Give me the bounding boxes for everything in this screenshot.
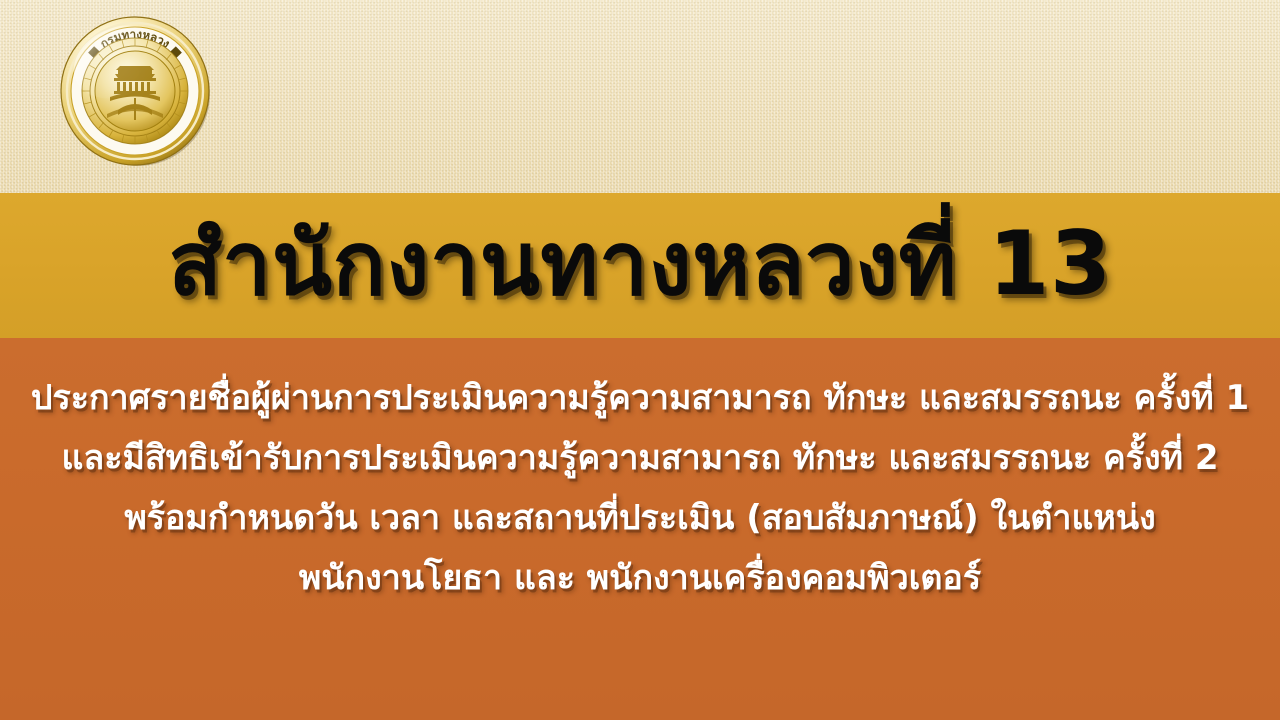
announcement-line-1: ประกาศรายชื่อผู้ผ่านการประเมินความรู้ควา… xyxy=(0,368,1280,428)
announcement-line-3: พร้อมกำหนดวัน เวลา และสถานที่ประเมิน (สอ… xyxy=(0,488,1280,548)
announcement-line-2: และมีสิทธิเข้ารับการประเมินความรู้ความสา… xyxy=(0,428,1280,488)
announcement-line-4: พนักงานโยธา และ พนักงานเครื่องคอมพิวเตอร… xyxy=(0,548,1280,608)
department-of-highways-seal-logo: ■ กรมทางหลวง ■ สำนักงานทางหลวงที่ 13 xyxy=(58,14,212,168)
title-band: สำนักงานทางหลวงที่ 13 xyxy=(0,193,1280,338)
announcement-text-block: ประกาศรายชื่อผู้ผ่านการประเมินความรู้ควา… xyxy=(0,368,1280,608)
announcement-slide: ■ กรมทางหลวง ■ สำนักงานทางหลวงที่ 13 xyxy=(0,0,1280,720)
announcement-band: ประกาศรายชื่อผู้ผ่านการประเมินความรู้ควา… xyxy=(0,338,1280,720)
page-title: สำนักงานทางหลวงที่ 13 xyxy=(168,220,1111,308)
